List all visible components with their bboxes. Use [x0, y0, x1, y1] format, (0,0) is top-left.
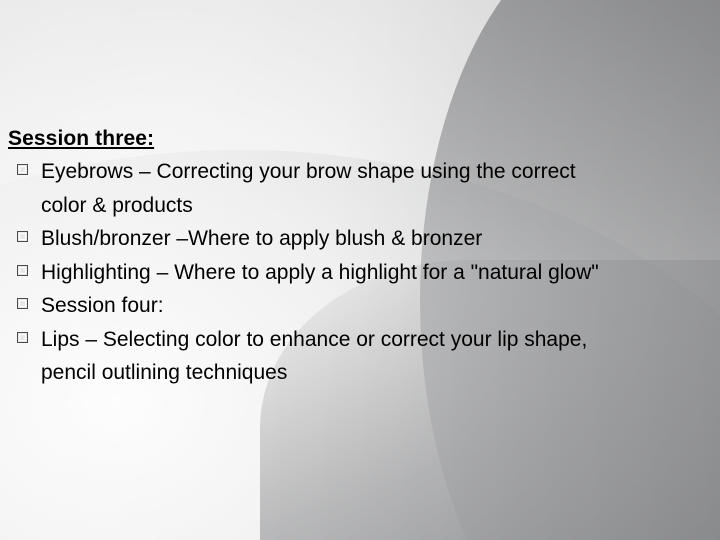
- list-item-text: Session four:: [41, 289, 608, 323]
- list-item-text: Blush/bronzer –Where to apply blush & br…: [41, 222, 608, 256]
- list-item: Session four:: [8, 289, 608, 323]
- list-item: Highlighting – Where to apply a highligh…: [8, 256, 608, 290]
- list-item: Blush/bronzer –Where to apply blush & br…: [8, 222, 608, 256]
- bullet-list: Eyebrows – Correcting your brow shape us…: [8, 155, 608, 390]
- slide-content: Session three: Eyebrows – Correcting you…: [8, 126, 608, 390]
- square-bullet-icon: [17, 298, 28, 309]
- list-item: Eyebrows – Correcting your brow shape us…: [8, 155, 608, 222]
- list-item-text: Highlighting – Where to apply a highligh…: [41, 256, 608, 290]
- square-bullet-icon: [17, 332, 28, 343]
- square-bullet-icon: [17, 164, 28, 175]
- list-item-text: Eyebrows – Correcting your brow shape us…: [41, 155, 608, 222]
- list-item: Lips – Selecting color to enhance or cor…: [8, 323, 608, 390]
- slide-canvas: Session three: Eyebrows – Correcting you…: [0, 0, 720, 540]
- square-bullet-icon: [17, 265, 28, 276]
- slide-heading: Session three:: [8, 126, 608, 152]
- square-bullet-icon: [17, 231, 28, 242]
- list-item-text: Lips – Selecting color to enhance or cor…: [41, 323, 608, 390]
